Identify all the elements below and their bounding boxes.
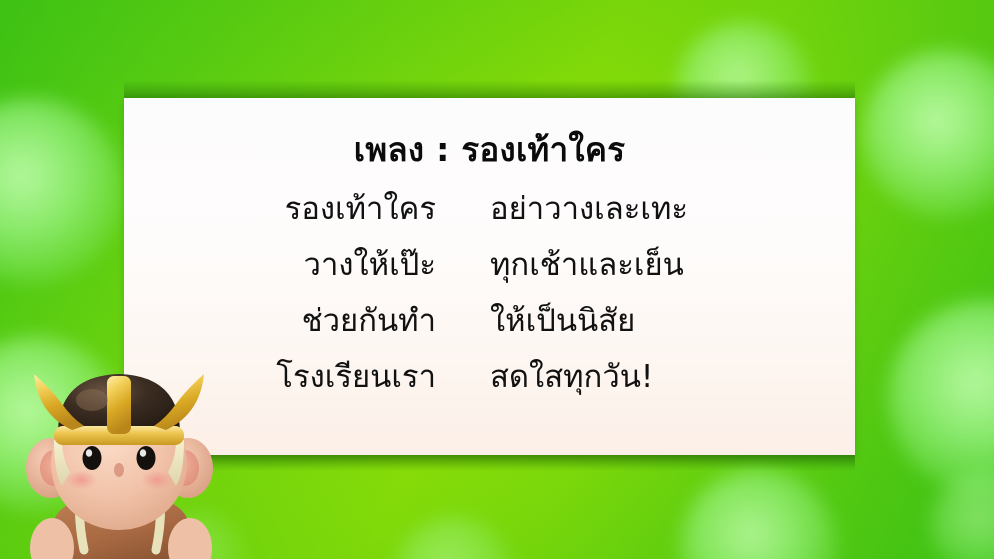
slide-canvas: เพลง : รองเท้าใคร รองเท้าใคร อย่าวางเละเ… — [0, 0, 994, 559]
lyric-right-phrase: ให้เป็นนิสัย — [436, 304, 855, 340]
lyric-right-phrase: สดใสทุกวัน! — [436, 360, 855, 396]
song-title: เพลง : รองเท้าใคร — [124, 132, 855, 168]
lyric-left-phrase: วางให้เป๊ะ — [124, 248, 436, 284]
lyric-left-phrase: รองเท้าใคร — [124, 192, 436, 228]
lyric-right-phrase: อย่าวางเละเทะ — [436, 192, 855, 228]
lyrics-card: เพลง : รองเท้าใคร รองเท้าใคร อย่าวางเละเ… — [124, 98, 855, 455]
lyric-line: โรงเรียนเรา สดใสทุกวัน! — [124, 360, 855, 416]
lyric-left-phrase: โรงเรียนเรา — [124, 360, 436, 396]
lyric-left-phrase: ช่วยกันทำ — [124, 304, 436, 340]
lyric-line: ช่วยกันทำ ให้เป็นนิสัย — [124, 304, 855, 360]
lyric-line: วางให้เป๊ะ ทุกเช้าและเย็น — [124, 248, 855, 304]
lyric-line: รองเท้าใคร อย่าวางเละเทะ — [124, 192, 855, 248]
lyric-right-phrase: ทุกเช้าและเย็น — [436, 248, 855, 284]
